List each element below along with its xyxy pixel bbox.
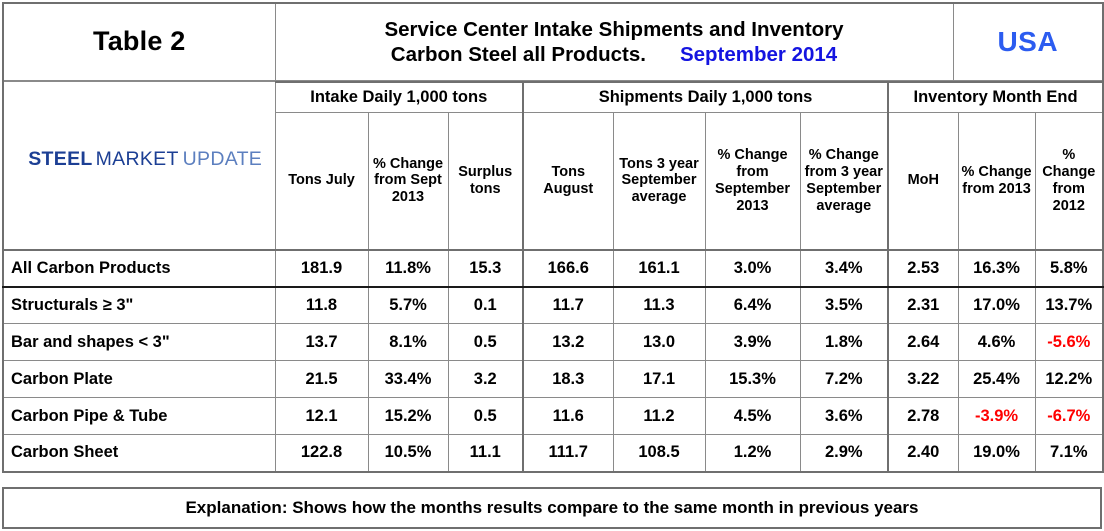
- cell-tons-august: 111.7: [523, 435, 613, 472]
- table-row: Carbon Plate 21.5 33.4% 3.2 18.3 17.1 15…: [3, 361, 1103, 398]
- cell-pct-change-september-2013: 4.5%: [705, 398, 800, 435]
- cell-pct-change-september-2013: 6.4%: [705, 287, 800, 324]
- column-header-pct-change-sept-2013: % Change from Sept 2013: [368, 113, 448, 250]
- cell-pct-change-2013: 19.0%: [958, 435, 1035, 472]
- cell-tons-july: 11.8: [275, 287, 368, 324]
- table-screenshot: Table 2 Service Center Intake Shipments …: [0, 0, 1104, 531]
- cell-pct-change-2012: 13.7%: [1035, 287, 1103, 324]
- cell-pct-change-3yr-sept-avg: 1.8%: [800, 324, 888, 361]
- row-label: Carbon Pipe & Tube: [3, 398, 275, 435]
- cell-surplus-tons: 0.1: [448, 287, 523, 324]
- cell-tons-august: 166.6: [523, 250, 613, 287]
- cell-pct-change-sept-2013: 15.2%: [368, 398, 448, 435]
- cell-tons-july: 12.1: [275, 398, 368, 435]
- cell-pct-change-sept-2013: 33.4%: [368, 361, 448, 398]
- cell-pct-change-sept-2013: 5.7%: [368, 287, 448, 324]
- cell-moh: 2.40: [888, 435, 958, 472]
- column-header-tons-july: Tons July: [275, 113, 368, 250]
- explanation-text: Explanation: Shows how the months result…: [185, 498, 918, 518]
- column-header-tons-august: Tons August: [523, 113, 613, 250]
- table-number: Table 2: [3, 3, 275, 80]
- cell-pct-change-3yr-sept-avg: 2.9%: [800, 435, 888, 472]
- cell-moh: 3.22: [888, 361, 958, 398]
- cell-tons-july: 13.7: [275, 324, 368, 361]
- cell-pct-change-3yr-sept-avg: 7.2%: [800, 361, 888, 398]
- column-header-moh: MoH: [888, 113, 958, 250]
- row-label: Structurals ≥ 3": [3, 287, 275, 324]
- cell-tons-3yr-sept-avg: 17.1: [613, 361, 705, 398]
- data-table: STEELMARKETUPDATE Intake Daily 1,000 ton…: [2, 81, 1104, 473]
- table-row: Structurals ≥ 3" 11.8 5.7% 0.1 11.7 11.3…: [3, 287, 1103, 324]
- cell-surplus-tons: 15.3: [448, 250, 523, 287]
- cell-tons-3yr-sept-avg: 11.3: [613, 287, 705, 324]
- cell-pct-change-2012: 7.1%: [1035, 435, 1103, 472]
- logo-word-update: UPDATE: [183, 148, 262, 170]
- group-header-row: STEELMARKETUPDATE Intake Daily 1,000 ton…: [3, 82, 1103, 113]
- title-table: Table 2 Service Center Intake Shipments …: [2, 2, 1104, 81]
- row-label: Carbon Plate: [3, 361, 275, 398]
- cell-tons-august: 11.7: [523, 287, 613, 324]
- cell-pct-change-3yr-sept-avg: 3.6%: [800, 398, 888, 435]
- cell-pct-change-sept-2013: 11.8%: [368, 250, 448, 287]
- cell-moh: 2.64: [888, 324, 958, 361]
- cell-pct-change-2012: 12.2%: [1035, 361, 1103, 398]
- cell-tons-3yr-sept-avg: 13.0: [613, 324, 705, 361]
- group-header-inventory: Inventory Month End: [888, 82, 1103, 113]
- logo-cell: STEELMARKETUPDATE: [3, 82, 275, 250]
- cell-pct-change-2013: 25.4%: [958, 361, 1035, 398]
- cell-tons-3yr-sept-avg: 108.5: [613, 435, 705, 472]
- cell-pct-change-2013: 4.6%: [958, 324, 1035, 361]
- cell-pct-change-september-2013: 1.2%: [705, 435, 800, 472]
- cell-pct-change-2012: 5.8%: [1035, 250, 1103, 287]
- cell-pct-change-2013: 16.3%: [958, 250, 1035, 287]
- report-month: September 2014: [680, 43, 837, 66]
- cell-tons-august: 13.2: [523, 324, 613, 361]
- logo-word-market: MARKET: [96, 148, 179, 170]
- cell-moh: 2.31: [888, 287, 958, 324]
- cell-pct-change-september-2013: 3.0%: [705, 250, 800, 287]
- cell-pct-change-sept-2013: 10.5%: [368, 435, 448, 472]
- column-header-tons-3yr-sept-avg: Tons 3 year September average: [613, 113, 705, 250]
- cell-pct-change-2013: -3.9%: [958, 398, 1035, 435]
- cell-pct-change-2012: -5.6%: [1035, 324, 1103, 361]
- cell-tons-july: 181.9: [275, 250, 368, 287]
- report-title-line2: Carbon Steel all Products.September 2014: [282, 42, 947, 67]
- cell-tons-august: 11.6: [523, 398, 613, 435]
- row-label: All Carbon Products: [3, 250, 275, 287]
- report-title: Service Center Intake Shipments and Inve…: [275, 3, 953, 80]
- row-label: Bar and shapes < 3": [3, 324, 275, 361]
- cell-surplus-tons: 11.1: [448, 435, 523, 472]
- cell-surplus-tons: 3.2: [448, 361, 523, 398]
- cell-pct-change-2013: 17.0%: [958, 287, 1035, 324]
- report-title-line1: Service Center Intake Shipments and Inve…: [282, 17, 947, 42]
- cell-tons-july: 122.8: [275, 435, 368, 472]
- column-header-pct-change-september-2013: % Change from September 2013: [705, 113, 800, 250]
- country-label: USA: [953, 3, 1103, 80]
- cell-pct-change-3yr-sept-avg: 3.4%: [800, 250, 888, 287]
- cell-pct-change-september-2013: 15.3%: [705, 361, 800, 398]
- table-row: Carbon Pipe & Tube 12.1 15.2% 0.5 11.6 1…: [3, 398, 1103, 435]
- group-header-shipments: Shipments Daily 1,000 tons: [523, 82, 888, 113]
- logo-wordmark: STEELMARKETUPDATE: [28, 150, 256, 170]
- cell-tons-3yr-sept-avg: 11.2: [613, 398, 705, 435]
- cell-surplus-tons: 0.5: [448, 324, 523, 361]
- title-row: Table 2 Service Center Intake Shipments …: [3, 3, 1103, 80]
- cell-pct-change-september-2013: 3.9%: [705, 324, 800, 361]
- column-header-pct-change-2012: % Change from 2012: [1035, 113, 1103, 250]
- column-header-pct-change-3yr-sept-avg: % Change from 3 year September average: [800, 113, 888, 250]
- cell-pct-change-3yr-sept-avg: 3.5%: [800, 287, 888, 324]
- column-header-surplus-tons: Surplus tons: [448, 113, 523, 250]
- cell-tons-3yr-sept-avg: 161.1: [613, 250, 705, 287]
- group-header-intake: Intake Daily 1,000 tons: [275, 82, 523, 113]
- cell-moh: 2.78: [888, 398, 958, 435]
- column-header-pct-change-2013: % Change from 2013: [958, 113, 1035, 250]
- table-row: All Carbon Products 181.9 11.8% 15.3 166…: [3, 250, 1103, 287]
- cell-pct-change-2012: -6.7%: [1035, 398, 1103, 435]
- table-row: Carbon Sheet 122.8 10.5% 11.1 111.7 108.…: [3, 435, 1103, 472]
- row-label: Carbon Sheet: [3, 435, 275, 472]
- cell-pct-change-sept-2013: 8.1%: [368, 324, 448, 361]
- cell-tons-july: 21.5: [275, 361, 368, 398]
- logo-word-steel: STEEL: [28, 148, 92, 170]
- report-subject: Carbon Steel all Products.: [391, 43, 646, 66]
- steel-market-update-logo: STEELMARKETUPDATE: [21, 126, 257, 204]
- cell-tons-august: 18.3: [523, 361, 613, 398]
- table-row: Bar and shapes < 3" 13.7 8.1% 0.5 13.2 1…: [3, 324, 1103, 361]
- cell-moh: 2.53: [888, 250, 958, 287]
- explanation-footer: Explanation: Shows how the months result…: [2, 487, 1102, 529]
- cell-surplus-tons: 0.5: [448, 398, 523, 435]
